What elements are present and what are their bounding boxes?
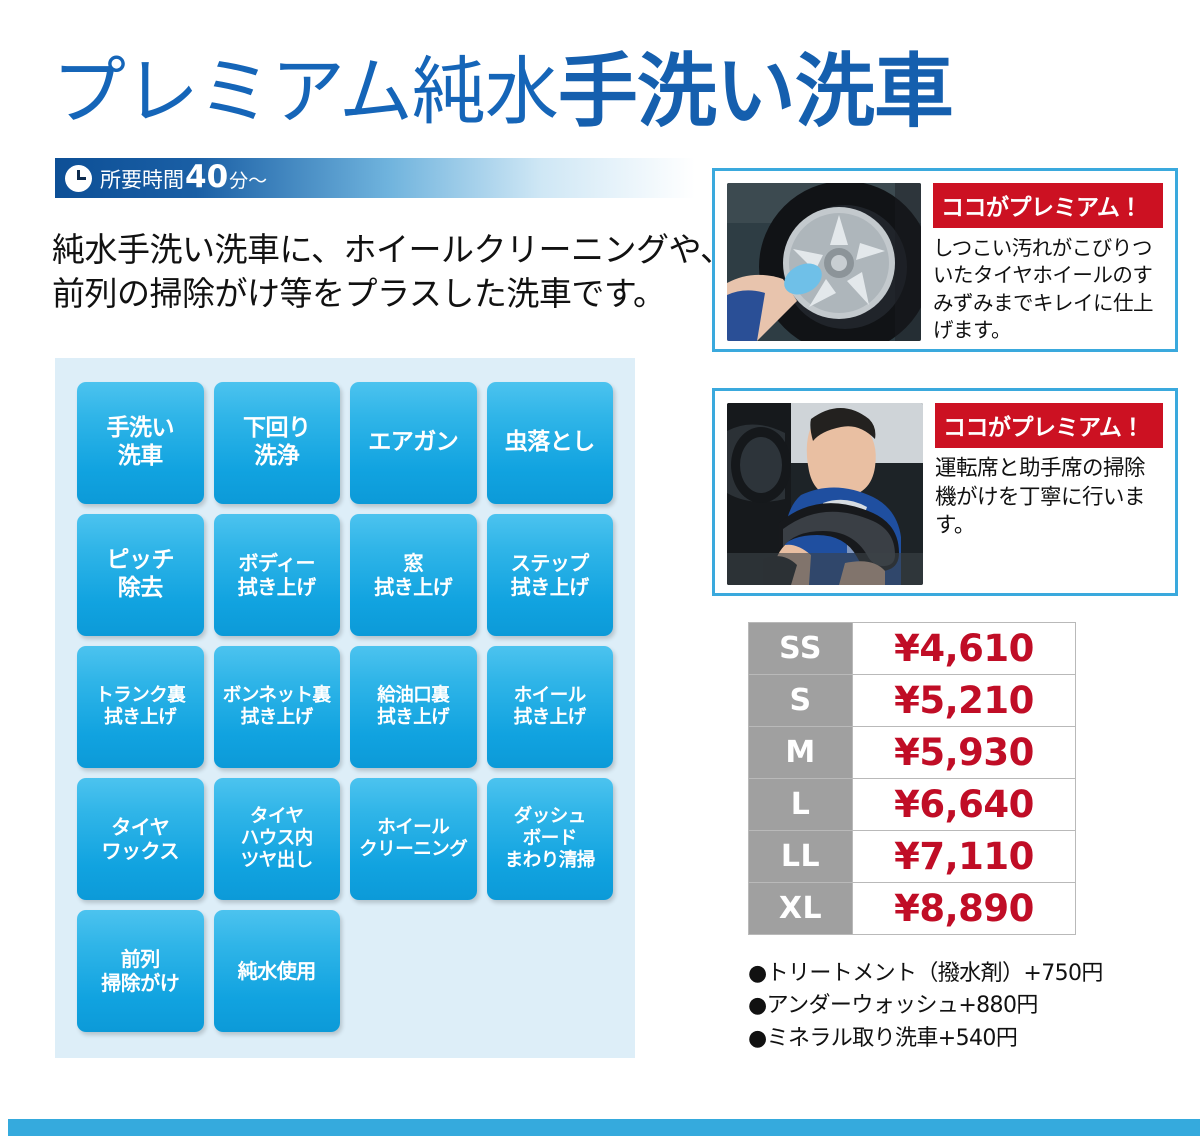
service-tile: タイヤハウス内ツヤ出し <box>214 778 341 900</box>
service-tile-line: ホイール <box>514 685 586 707</box>
premium-body-2: ココがプレミアム！ 運転席と助手席の掃除機がけを丁寧に行います。 <box>935 403 1163 581</box>
service-tile: タイヤワックス <box>77 778 204 900</box>
duration-value: 40 <box>184 162 229 193</box>
service-tile-line: 手洗い <box>107 415 175 443</box>
wheel-cleaning-photo <box>727 183 921 341</box>
premium-badge-2: ココがプレミアム！ <box>935 403 1163 448</box>
service-tile-line: 拭き上げ <box>511 575 589 599</box>
price-row: L¥6,640 <box>749 779 1076 831</box>
price-size-cell: LL <box>749 831 853 883</box>
service-tile-line: エアガン <box>368 429 458 457</box>
service-tile-line: 虫落とし <box>505 429 595 457</box>
service-tile: 給油口裏拭き上げ <box>350 646 477 768</box>
premium-text-1: しつこい汚れがこびりついたタイヤホイールのすみずみまでキレイに仕上げます。 <box>933 235 1163 344</box>
service-tile-line: ダッシュ <box>505 806 595 828</box>
service-tile: トランク裏拭き上げ <box>77 646 204 768</box>
price-row: LL¥7,110 <box>749 831 1076 883</box>
price-value-cell: ¥8,890 <box>853 883 1076 935</box>
service-tile-line: タイヤ <box>102 815 179 839</box>
service-tile-line: 純水使用 <box>238 959 316 983</box>
page-title-light: プレミアム純水 <box>52 55 558 129</box>
price-size-cell: SS <box>749 623 853 675</box>
price-size-cell: M <box>749 727 853 779</box>
service-tile-line: ホイール <box>359 817 467 839</box>
services-panel: 手洗い洗車下回り洗浄エアガン虫落としピッチ除去ボディー拭き上げ窓拭き上げステップ… <box>55 358 635 1058</box>
service-tile-line: ステップ <box>511 551 589 575</box>
service-tile-line: 下回り <box>243 415 311 443</box>
service-tile: ホイールクリーニング <box>350 778 477 900</box>
price-row: SS¥4,610 <box>749 623 1076 675</box>
premium-badge-1: ココがプレミアム！ <box>933 183 1163 228</box>
service-tile: 窓拭き上げ <box>350 514 477 636</box>
price-size-cell: XL <box>749 883 853 935</box>
service-tile-line: タイヤ <box>241 806 313 828</box>
bottom-accent-bar <box>8 1119 1200 1136</box>
service-tile-line: クリーニング <box>359 839 467 861</box>
service-tile-line: 拭き上げ <box>223 707 331 729</box>
duration-bar: 所要時間40分〜 <box>55 158 695 198</box>
premium-callout-2: ココがプレミアム！ 運転席と助手席の掃除機がけを丁寧に行います。 <box>712 388 1178 596</box>
service-tile-line: ボディー <box>238 551 316 575</box>
service-tile-line: 除去 <box>107 575 175 603</box>
service-tile-line: 前列 <box>101 947 179 971</box>
price-value-cell: ¥6,640 <box>853 779 1076 831</box>
service-tile: 純水使用 <box>214 910 341 1032</box>
price-size-cell: S <box>749 675 853 727</box>
service-tile: ホイール拭き上げ <box>487 646 614 768</box>
service-tile: 前列掃除がけ <box>77 910 204 1032</box>
service-description: 純水手洗い洗車に、ホイールクリーニングや、 前列の掃除がけ等をプラスした洗車です… <box>52 228 732 316</box>
interior-vacuum-photo <box>727 403 923 585</box>
service-tile-line: 拭き上げ <box>377 707 449 729</box>
services-grid: 手洗い洗車下回り洗浄エアガン虫落としピッチ除去ボディー拭き上げ窓拭き上げステップ… <box>77 382 613 1032</box>
service-tile-line: 拭き上げ <box>514 707 586 729</box>
description-line-1: 純水手洗い洗車に、ホイールクリーニングや、 <box>52 228 732 272</box>
service-tile-line: ボード <box>505 828 595 850</box>
price-row: M¥5,930 <box>749 727 1076 779</box>
page-title: プレミアム純水手洗い洗車 <box>52 44 972 140</box>
price-value-cell: ¥5,930 <box>853 727 1076 779</box>
service-tile-line: 窓 <box>374 551 452 575</box>
service-tile: ボディー拭き上げ <box>214 514 341 636</box>
price-value-cell: ¥4,610 <box>853 623 1076 675</box>
duration-unit: 分〜 <box>229 166 267 193</box>
service-tile: エアガン <box>350 382 477 504</box>
service-tile-line: ボンネット裏 <box>223 685 331 707</box>
description-line-2: 前列の掃除がけ等をプラスした洗車です。 <box>52 272 732 316</box>
premium-callout-1: ココがプレミアム！ しつこい汚れがこびりついたタイヤホイールのすみずみまでキレイ… <box>712 168 1178 352</box>
premium-text-2: 運転席と助手席の掃除機がけを丁寧に行います。 <box>935 455 1163 541</box>
price-table: SS¥4,610S¥5,210M¥5,930L¥6,640LL¥7,110XL¥… <box>748 622 1076 935</box>
service-tile: 下回り洗浄 <box>214 382 341 504</box>
service-tile-line: トランク裏 <box>95 685 185 707</box>
service-tile-line: ピッチ <box>107 547 175 575</box>
duration-label: 所要時間 <box>100 164 184 194</box>
service-tile-line: 拭き上げ <box>95 707 185 729</box>
options-list: ●トリートメント（撥水剤）+750円●アンダーウォッシュ+880円●ミネラル取り… <box>748 958 1168 1055</box>
option-item: ●ミネラル取り洗車+540円 <box>748 1023 1168 1055</box>
service-tile-line: 洗浄 <box>243 443 311 471</box>
price-value-cell: ¥7,110 <box>853 831 1076 883</box>
service-tile-line: 拭き上げ <box>374 575 452 599</box>
price-value-cell: ¥5,210 <box>853 675 1076 727</box>
premium-body-1: ココがプレミアム！ しつこい汚れがこびりついたタイヤホイールのすみずみまでキレイ… <box>933 183 1163 337</box>
price-size-cell: L <box>749 779 853 831</box>
service-tile: ステップ拭き上げ <box>487 514 614 636</box>
service-tile-line: まわり清掃 <box>505 850 595 872</box>
page-root: プレミアム純水手洗い洗車 所要時間40分〜 純水手洗い洗車に、ホイールクリーニン… <box>0 0 1200 1136</box>
service-tile-line: 洗車 <box>107 443 175 471</box>
service-tile-line: 掃除がけ <box>101 971 179 995</box>
service-tile-line: 給油口裏 <box>377 685 449 707</box>
clock-icon <box>65 165 92 192</box>
service-tile: ダッシュボードまわり清掃 <box>487 778 614 900</box>
option-item: ●アンダーウォッシュ+880円 <box>748 990 1168 1022</box>
service-tile-line: ワックス <box>102 839 179 863</box>
price-row: XL¥8,890 <box>749 883 1076 935</box>
service-tile: ボンネット裏拭き上げ <box>214 646 341 768</box>
service-tile: 手洗い洗車 <box>77 382 204 504</box>
service-tile-line: 拭き上げ <box>238 575 316 599</box>
price-row: S¥5,210 <box>749 675 1076 727</box>
page-title-bold: 手洗い洗車 <box>558 52 953 132</box>
duration-text: 所要時間40分〜 <box>100 162 267 194</box>
service-tile-line: ツヤ出し <box>241 850 313 872</box>
service-tile-line: ハウス内 <box>241 828 313 850</box>
option-item: ●トリートメント（撥水剤）+750円 <box>748 958 1168 990</box>
service-tile: 虫落とし <box>487 382 614 504</box>
service-tile: ピッチ除去 <box>77 514 204 636</box>
